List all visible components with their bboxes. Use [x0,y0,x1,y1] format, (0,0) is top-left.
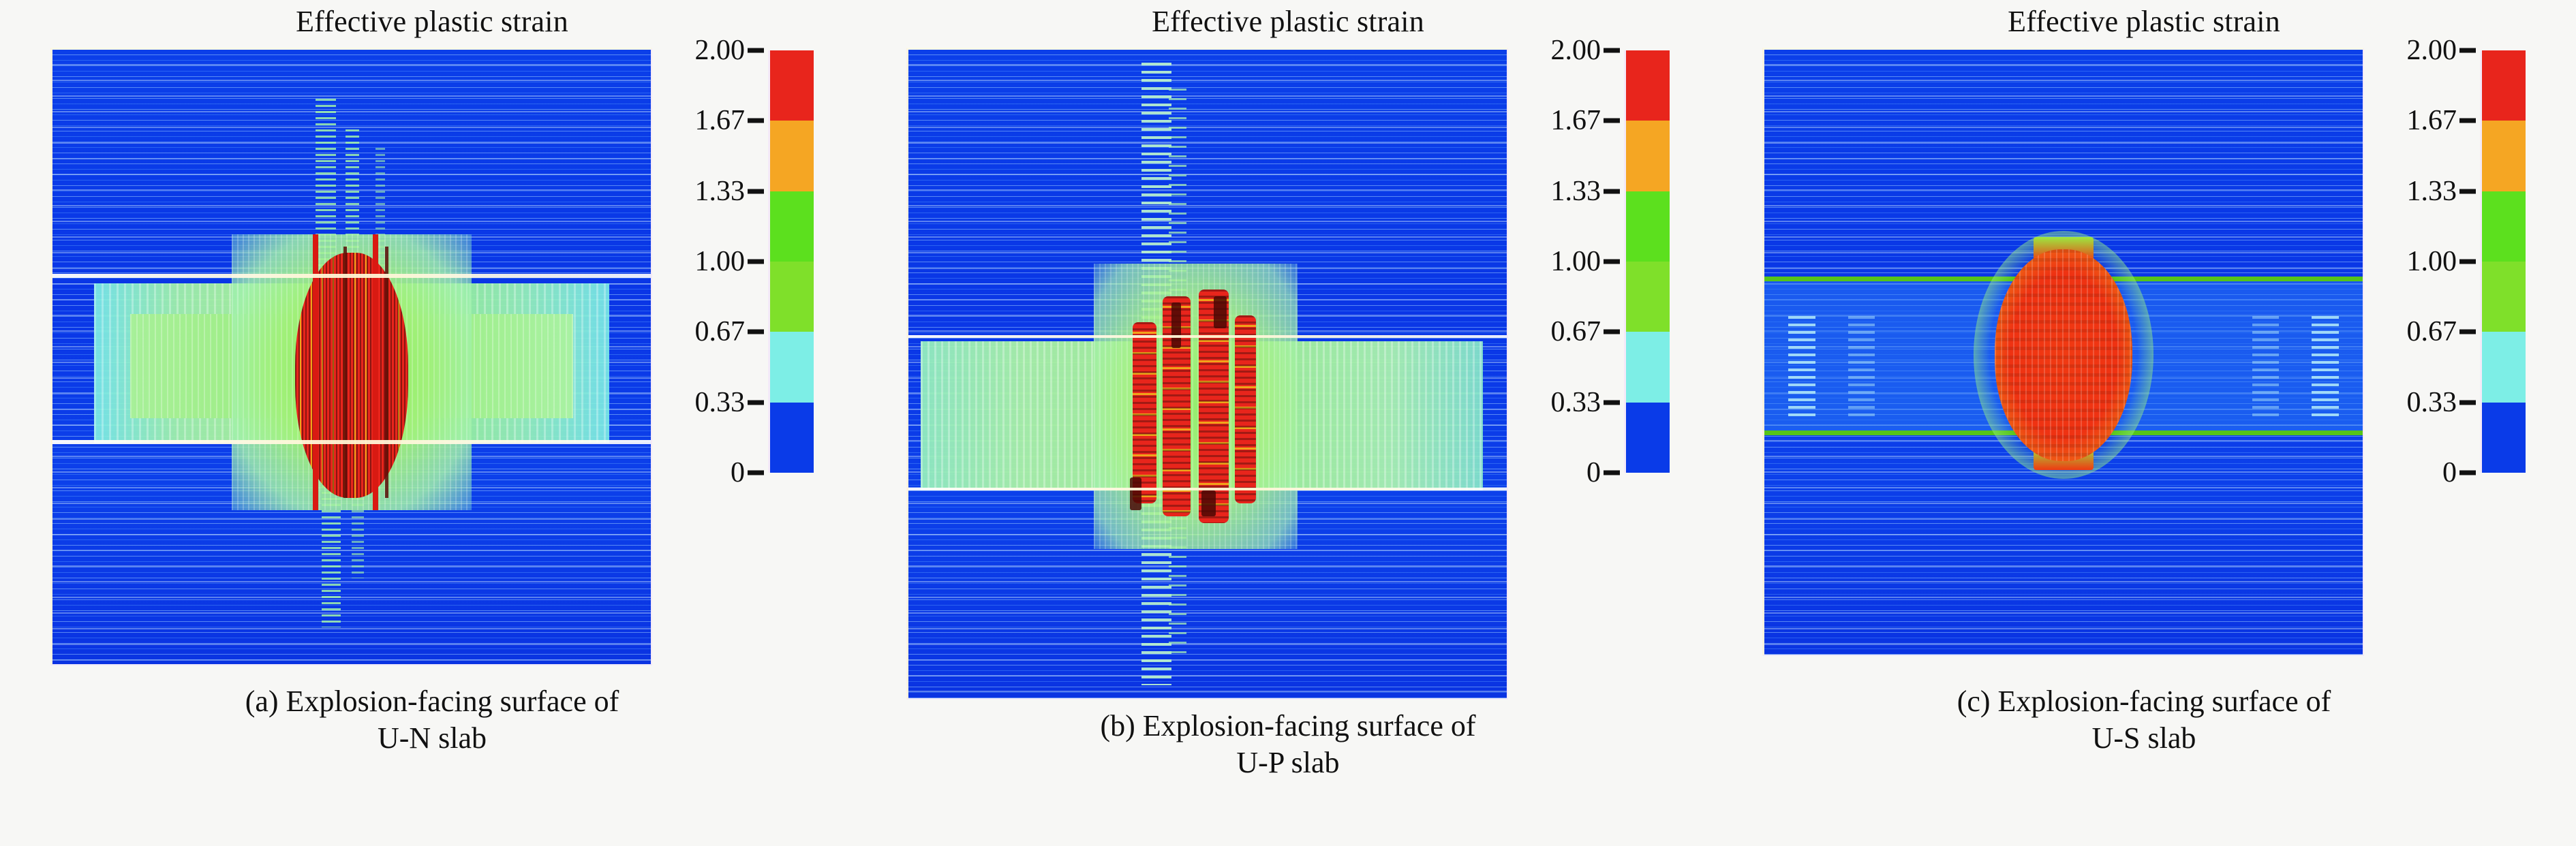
cbar-band-red [770,50,814,121]
cbar-tick-2-00 [748,48,764,53]
panel-b-colorbar [1624,50,1670,473]
cbar-label-1-33: 1.33 [695,175,746,208]
dark-patch-3 [1130,477,1142,510]
cbar-tick-0 [2459,471,2476,475]
panel-b-caption: (b) Explosion-facing surface of U-P slab [1100,708,1475,781]
cbar-label-0-67: 0.67 [1551,315,1601,348]
cbar-tick-2-00 [1604,48,1620,53]
panel-a-plot-row: 2.00 1.67 1.33 1.00 0.67 0.33 0 [50,48,814,665]
panel-c-colorbar-labels: 2.00 1.67 1.33 1.00 0.67 0.33 0 [2378,50,2480,473]
dark-patch-4 [1201,490,1216,516]
cbar-tick-1-67 [2459,119,2476,123]
cbar-tick-1-33 [748,189,764,193]
damage-core-red [295,253,409,499]
cbar-tick-0 [748,471,764,475]
cbar-tick-0-67 [2459,330,2476,334]
panel-b: Effective plastic strain [872,0,1704,846]
dark-stripe-right [385,247,388,499]
panel-b-plot-row: 2.00 1.67 1.33 1.00 0.67 0.33 0 [906,48,1670,700]
side-patch-right [2312,316,2339,419]
panel-c-contour-plot [1762,48,2364,656]
cbar-band-light-green [1626,262,1670,332]
cbar-band-blue [770,403,814,473]
cbar-band-cyan [2482,332,2526,402]
cbar-tick-0-67 [1604,330,1620,334]
cbar-tick-1-00 [748,260,764,264]
cbar-band-orange [1626,121,1670,191]
panel-b-caption-line1: (b) Explosion-facing surface of [1100,708,1475,745]
panel-c-caption-line2: U-S slab [1957,720,2331,757]
cbar-tick-0-33 [2459,400,2476,405]
panel-b-colorbar-labels: 2.00 1.67 1.33 1.00 0.67 0.33 0 [1522,50,1624,473]
cbar-tick-1-00 [2459,260,2476,264]
damage-core-red [1995,249,2132,461]
cbar-tick-0 [1604,471,1620,475]
cbar-label-2-00: 2.00 [1551,34,1601,67]
cbar-label-1-33: 1.33 [1551,175,1601,208]
cbar-band-blue [1626,403,1670,473]
cbar-label-1-67: 1.67 [695,104,746,137]
cbar-label-1-33: 1.33 [2407,175,2457,208]
cbar-tick-0-33 [748,400,764,405]
cbar-tick-0-67 [748,330,764,334]
dark-stripe-center [343,247,347,499]
side-patch-left-2 [1848,316,1875,419]
cbar-band-light-green [2482,262,2526,332]
cbar-band-red [2482,50,2526,121]
cbar-label-1-67: 1.67 [1551,104,1601,137]
panel-a-caption-line1: (a) Explosion-facing surface of [245,683,619,720]
panel-c-colorbar-group: 2.00 1.67 1.33 1.00 0.67 0.33 0 [2378,50,2526,473]
mesh-seam-upper [908,335,1507,338]
panel-a-caption-line2: U-N slab [245,720,619,757]
cbar-band-orange [2482,121,2526,191]
cbar-tick-1-67 [748,119,764,123]
cbar-label-1-00: 1.00 [2407,245,2457,278]
damage-core-green [1094,264,1298,549]
panel-b-contour-plot [906,48,1508,700]
panel-b-caption-line2: U-P slab [1100,745,1475,781]
cbar-label-2-00: 2.00 [2407,34,2457,67]
cbar-label-0: 0 [2442,456,2457,489]
cbar-label-0: 0 [1586,456,1601,489]
cbar-band-green [2482,191,2526,262]
cbar-label-0-33: 0.33 [695,386,746,419]
red-column-1 [1133,322,1156,504]
cbar-label-0: 0 [731,456,745,489]
cbar-tick-1-33 [2459,189,2476,193]
cbar-band-light-green [770,262,814,332]
panel-b-title: Effective plastic strain [1152,3,1424,41]
cbar-band-green [770,191,814,262]
cbar-label-1-00: 1.00 [695,245,746,278]
panel-a-contour-plot [50,48,652,665]
panel-c-caption: (c) Explosion-facing surface of U-S slab [1957,683,2331,756]
cbar-tick-1-00 [1604,260,1620,264]
cbar-label-2-00: 2.00 [695,34,746,67]
cbar-label-1-67: 1.67 [2407,104,2457,137]
panel-c-title: Effective plastic strain [2008,3,2280,41]
cbar-label-0-33: 0.33 [2407,386,2457,419]
cbar-tick-0-33 [1604,400,1620,405]
cbar-tick-1-67 [1604,119,1620,123]
side-patch-right-2 [2252,316,2280,419]
panel-a-title: Effective plastic strain [296,3,568,41]
cbar-band-orange [770,121,814,191]
panel-a-caption: (a) Explosion-facing surface of U-N slab [245,683,619,756]
cbar-label-0-67: 0.67 [2407,315,2457,348]
dark-patch-2 [1214,296,1227,329]
mesh-seam-lower [52,440,651,444]
cbar-band-blue [2482,403,2526,473]
panel-c-plot-row: 2.00 1.67 1.33 1.00 0.67 0.33 0 [1762,48,2526,656]
dark-patch-1 [1171,302,1181,348]
panel-a-colorbar-group: 2.00 1.67 1.33 1.00 0.67 0.33 0 [666,50,814,473]
cbar-label-0-33: 0.33 [1551,386,1601,419]
panel-b-colorbar-group: 2.00 1.67 1.33 1.00 0.67 0.33 0 [1522,50,1670,473]
cbar-band-cyan [1626,332,1670,402]
cbar-band-cyan [770,332,814,402]
cbar-label-0-67: 0.67 [695,315,746,348]
panel-c-colorbar [2480,50,2526,473]
cbar-band-red [1626,50,1670,121]
cbar-band-green [1626,191,1670,262]
panel-a-colorbar-labels: 2.00 1.67 1.33 1.00 0.67 0.33 0 [666,50,768,473]
figure-root: Effective plastic strain [0,0,2576,846]
panel-a-colorbar [768,50,814,473]
panel-c-caption-line1: (c) Explosion-facing surface of [1957,683,2331,720]
panel-c: Effective plastic strain [1728,0,2560,846]
panel-a: Effective plastic strain [16,0,848,846]
cbar-tick-2-00 [2459,48,2476,53]
mesh-seam-upper [52,274,651,278]
cbar-tick-1-33 [1604,189,1620,193]
mesh-seam-lower [908,488,1507,490]
red-column-4 [1235,315,1257,503]
side-patch-left [1788,316,1815,419]
cbar-label-1-00: 1.00 [1551,245,1601,278]
